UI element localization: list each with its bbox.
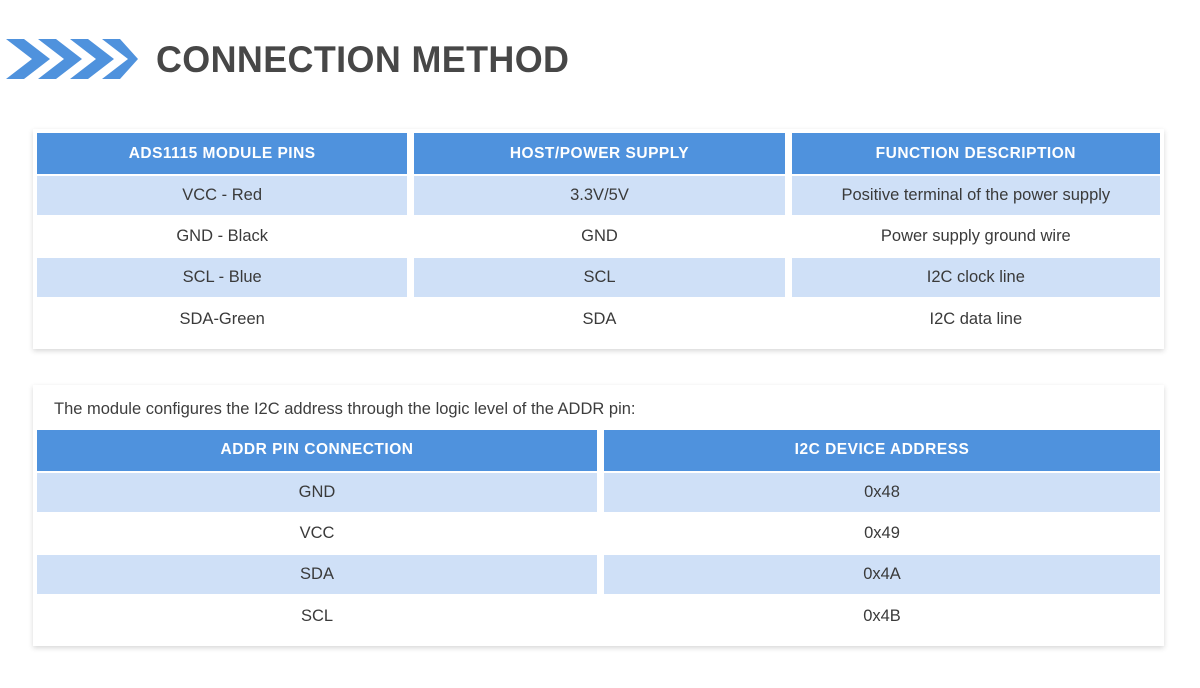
table-column-function-description: FUNCTION DESCRIPTION Positive terminal o… (792, 133, 1160, 340)
table-cell: 3.3V/5V (414, 176, 784, 217)
column-header: HOST/POWER SUPPLY (414, 133, 784, 176)
table-cell: Positive terminal of the power supply (792, 176, 1160, 217)
table-cell: SDA (414, 299, 784, 340)
column-header: I2C DEVICE ADDRESS (604, 430, 1160, 473)
table-cell: 0x4A (604, 555, 1160, 596)
table-cell: SDA (37, 555, 597, 596)
table-cell: GND - Black (37, 217, 407, 258)
table-cell: Power supply ground wire (792, 217, 1160, 258)
column-header: ADS1115 MODULE PINS (37, 133, 407, 176)
addr-note-text: The module configures the I2C address th… (37, 389, 1160, 430)
column-header: ADDR PIN CONNECTION (37, 430, 597, 473)
table-column-i2c-device-address: I2C DEVICE ADDRESS 0x48 0x49 0x4A 0x4B (604, 430, 1160, 637)
column-header: FUNCTION DESCRIPTION (792, 133, 1160, 176)
table-column-addr-pin-connection: ADDR PIN CONNECTION GND VCC SDA SCL (37, 430, 597, 637)
slide-canvas: CONNECTION METHOD ADS1115 MODULE PINS VC… (0, 0, 1200, 688)
table-cell: GND (414, 217, 784, 258)
table-cell: SDA-Green (37, 299, 407, 340)
addr-address-table: ADDR PIN CONNECTION GND VCC SDA SCL I2C … (37, 430, 1160, 637)
page-title: CONNECTION METHOD (156, 41, 569, 78)
table-cell: 0x48 (604, 473, 1160, 514)
table-cell: I2C clock line (792, 258, 1160, 299)
table-column-module-pins: ADS1115 MODULE PINS VCC - Red GND - Blac… (37, 133, 407, 340)
table-cell: GND (37, 473, 597, 514)
table-cell: SCL (37, 596, 597, 637)
table-cell: VCC - Red (37, 176, 407, 217)
table-cell: I2C data line (792, 299, 1160, 340)
double-chevron-right-icon (2, 37, 138, 81)
table-cell: 0x49 (604, 514, 1160, 555)
slide-header: CONNECTION METHOD (0, 28, 582, 90)
table-column-host-power-supply: HOST/POWER SUPPLY 3.3V/5V GND SCL SDA (414, 133, 784, 340)
table-cell: SCL (414, 258, 784, 299)
table-cell: SCL - Blue (37, 258, 407, 299)
pin-connection-table-panel: ADS1115 MODULE PINS VCC - Red GND - Blac… (33, 129, 1164, 349)
table-cell: VCC (37, 514, 597, 555)
pin-connection-table: ADS1115 MODULE PINS VCC - Red GND - Blac… (37, 133, 1160, 340)
addr-address-table-panel: The module configures the I2C address th… (33, 385, 1164, 646)
table-cell: 0x4B (604, 596, 1160, 637)
